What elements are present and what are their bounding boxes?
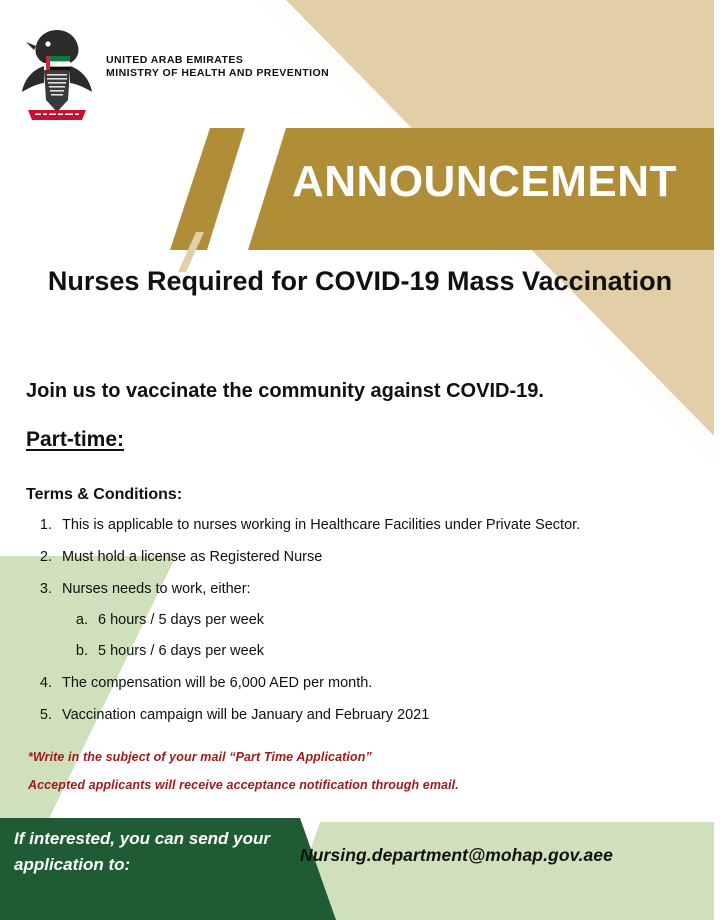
ministry-name: UNITED ARAB EMIRATES MINISTRY OF HEALTH … bbox=[106, 54, 329, 80]
list-item: Vaccination campaign will be January and… bbox=[56, 706, 716, 725]
announcement-banner-label: ANNOUNCEMENT bbox=[292, 160, 677, 204]
right-edge-margin bbox=[714, 0, 720, 920]
ministry-logo-block: UNITED ARAB EMIRATES MINISTRY OF HEALTH … bbox=[18, 26, 329, 124]
green-footer-band-2 bbox=[286, 822, 720, 920]
uae-falcon-emblem-icon bbox=[18, 26, 96, 124]
term-text: Must hold a license as Registered Nurse bbox=[62, 549, 322, 565]
terms-list: This is applicable to nurses working in … bbox=[26, 516, 716, 738]
term-text: The compensation will be 6,000 AED per m… bbox=[62, 675, 372, 691]
terms-and-conditions-heading: Terms & Conditions: bbox=[26, 486, 182, 504]
list-item: Nurses needs to work, either: 6 hours / … bbox=[56, 580, 716, 662]
terms-sublist: 6 hours / 5 days per week 5 hours / 6 da… bbox=[62, 611, 716, 662]
note-acceptance: Accepted applicants will receive accepta… bbox=[28, 778, 459, 792]
poster-root: UNITED ARAB EMIRATES MINISTRY OF HEALTH … bbox=[0, 0, 720, 920]
term-subtext: 5 hours / 6 days per week bbox=[98, 643, 264, 659]
section-heading-part-time: Part-time: bbox=[26, 428, 124, 452]
ministry-line-2: MINISTRY OF HEALTH AND PREVENTION bbox=[106, 67, 329, 80]
list-item: 6 hours / 5 days per week bbox=[92, 611, 716, 630]
contact-email-suffix: e bbox=[603, 845, 613, 865]
list-item: The compensation will be 6,000 AED per m… bbox=[56, 674, 716, 693]
page-title: Nurses Required for COVID-19 Mass Vaccin… bbox=[40, 262, 680, 301]
list-item: 5 hours / 6 days per week bbox=[92, 642, 716, 661]
note-subject-line: *Write in the subject of your mail “Part… bbox=[28, 750, 372, 764]
term-text: Nurses needs to work, either: bbox=[62, 581, 251, 597]
term-text: Vaccination campaign will be January and… bbox=[62, 707, 429, 723]
list-item: Must hold a license as Registered Nurse bbox=[56, 548, 716, 567]
contact-email-text: Nursing.department@mohap.gov.ae bbox=[300, 845, 603, 865]
footer-call-to-action: If interested, you can send your applica… bbox=[14, 826, 284, 879]
contact-email[interactable]: Nursing.department@mohap.gov.aee bbox=[300, 845, 613, 866]
term-text: This is applicable to nurses working in … bbox=[62, 517, 580, 533]
term-subtext: 6 hours / 5 days per week bbox=[98, 612, 264, 628]
ministry-line-1: UNITED ARAB EMIRATES bbox=[106, 54, 329, 67]
subtitle: Join us to vaccinate the community again… bbox=[26, 380, 544, 403]
list-item: This is applicable to nurses working in … bbox=[56, 516, 716, 535]
